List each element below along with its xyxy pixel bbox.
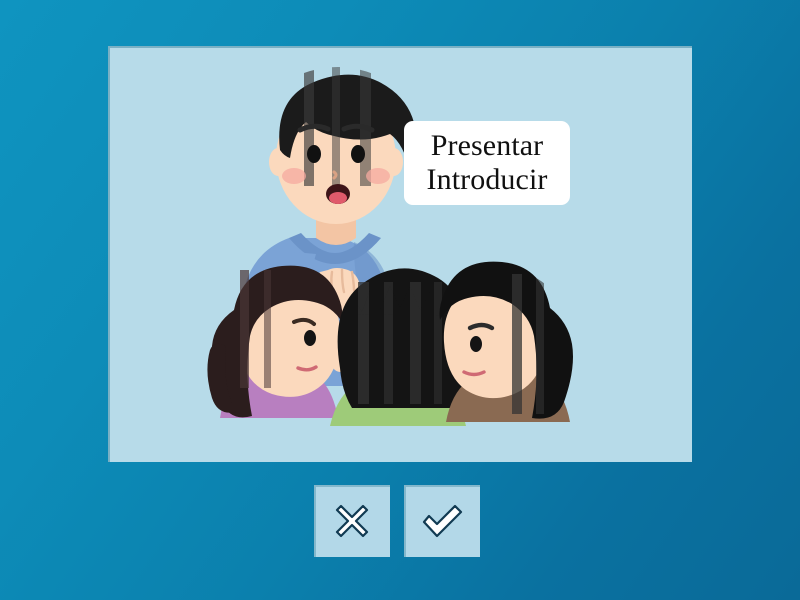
presentation-illustration [108,46,692,462]
audience-right-person [440,262,574,424]
presenter-tongue [329,192,347,204]
check-icon [417,497,467,545]
presenter-blush-left [282,168,306,184]
answer-button-bar [314,485,480,557]
audience-left-woman [207,266,342,418]
right-eye [470,336,482,352]
woman-eye [304,330,316,346]
presenter-eye-right [351,145,365,163]
cross-icon [328,497,376,545]
app-background: Presentar Introducir [0,0,800,600]
word-label-line-1: Presentar [431,129,544,163]
incorrect-button[interactable] [314,485,390,557]
presenter-eye-left [307,145,321,163]
presenter-blush-right [366,168,390,184]
correct-button[interactable] [404,485,480,557]
flashcard[interactable]: Presentar Introducir [108,46,692,462]
word-label-line-2: Introducir [427,163,548,197]
word-label: Presentar Introducir [404,121,570,205]
